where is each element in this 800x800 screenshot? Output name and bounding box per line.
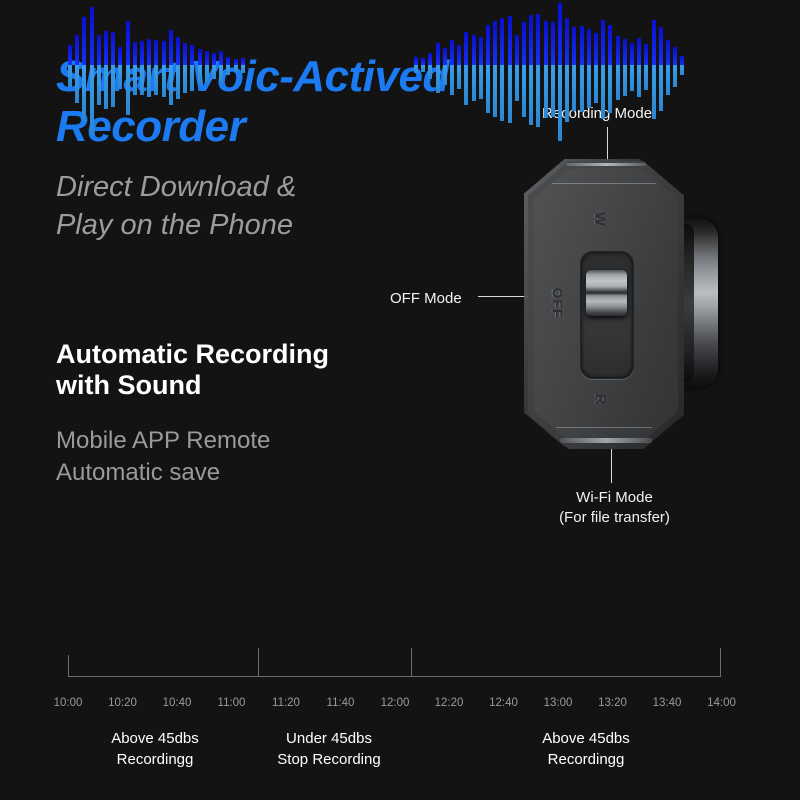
chart-tick-label: 12:20 <box>429 697 469 709</box>
chart-divider-stop-end <box>411 648 412 677</box>
waveform-bar-lower <box>154 65 158 95</box>
mode-slider-knob[interactable] <box>586 270 627 316</box>
waveform-bar-lower <box>479 65 483 99</box>
waveform-bar <box>623 39 627 96</box>
waveform-bar <box>90 7 94 135</box>
waveform-bar <box>133 42 137 95</box>
chart-tick-label: 10:00 <box>48 697 88 709</box>
waveform-bar-upper <box>198 49 202 65</box>
waveform-bar-upper <box>219 51 223 65</box>
waveform-bar-lower <box>443 65 447 85</box>
waveform-bar-lower <box>608 65 612 113</box>
waveform-bar <box>428 53 432 79</box>
waveform-bar-lower <box>565 65 569 122</box>
waveform-bar-lower <box>234 65 238 72</box>
caption-segment-2-line-2: Stop Recording <box>229 749 429 770</box>
chart-tick-label: 12:40 <box>484 697 524 709</box>
waveform-bar-lower <box>428 65 432 79</box>
waveform-bar-upper <box>479 37 483 65</box>
feature-title-line-2: with Sound <box>56 370 456 401</box>
callout-off-mode: OFF Mode <box>390 289 462 309</box>
waveform-bar <box>169 30 173 105</box>
callout-wifi-mode: Wi-Fi Mode (For file transfer) <box>512 488 717 528</box>
waveform-bar-upper <box>226 57 230 65</box>
waveform-bar-lower <box>623 65 627 96</box>
device-label-off: OFF <box>550 288 566 319</box>
waveform-bar-upper <box>659 27 663 65</box>
caption-segment-3-line-2: Recordingg <box>486 749 686 770</box>
chart-tick-label: 11:20 <box>266 697 306 709</box>
waveform-bar <box>126 21 130 115</box>
waveform-bar-upper <box>154 40 158 65</box>
waveform-bar-upper <box>616 36 620 65</box>
waveform-bar-lower <box>183 65 187 93</box>
waveform-bar-upper <box>75 35 79 65</box>
waveform-bar-upper <box>536 14 540 65</box>
chart-divider-recording-end <box>258 648 259 677</box>
waveform-bar <box>140 41 144 95</box>
waveform-bar-lower <box>241 65 245 73</box>
waveform-bar <box>673 47 677 87</box>
waveform-bar-upper <box>601 20 605 65</box>
waveform-bar <box>529 15 533 125</box>
waveform-bar-upper <box>580 26 584 65</box>
waveform-bar-upper <box>176 37 180 65</box>
waveform-bar <box>594 33 598 103</box>
waveform-bar-lower <box>500 65 504 121</box>
waveform-bar <box>154 40 158 95</box>
device-bottom-accent-strip <box>560 438 652 443</box>
waveform-bar <box>565 18 569 122</box>
waveform-bar-upper <box>551 22 555 65</box>
waveform-bar-lower <box>558 65 562 141</box>
caption-segment-1-line-2: Recordingg <box>55 749 255 770</box>
waveform-bar-upper <box>594 33 598 65</box>
waveform-bar-lower <box>97 65 101 105</box>
waveform-bar-lower <box>472 65 476 101</box>
waveform-bar <box>176 37 180 99</box>
waveform-bar <box>190 45 194 91</box>
waveform-bar <box>666 40 670 95</box>
waveform-bar-upper <box>82 17 86 65</box>
waveform-bar <box>551 22 555 117</box>
waveform-bar-lower <box>637 65 641 97</box>
chart-divider-end <box>720 648 721 677</box>
waveform-bar-upper <box>472 35 476 65</box>
waveform-bar <box>486 25 490 113</box>
waveform-bar <box>450 40 454 95</box>
waveform-bar <box>680 56 684 75</box>
waveform-bar <box>464 32 468 105</box>
waveform-bar-upper <box>680 56 684 65</box>
waveform-bar-lower <box>414 65 418 73</box>
waveform-bar-lower <box>680 65 684 75</box>
waveform-bar <box>436 43 440 93</box>
waveform-bar <box>82 17 86 121</box>
waveform-bar <box>536 14 540 127</box>
waveform-bar-lower <box>572 65 576 111</box>
waveform-bar-lower <box>205 65 209 83</box>
chart-tick-label: 14:00 <box>702 697 742 709</box>
waveform-bar-upper <box>118 47 122 65</box>
waveform-bar <box>630 43 634 91</box>
waveform-bar <box>572 27 576 111</box>
waveform-bar-upper <box>90 7 94 65</box>
device-top-hairline <box>552 183 656 184</box>
marketing-page: Smart Voic-Actived Recorder Direct Downl… <box>0 0 800 800</box>
device-label-w: W <box>591 212 608 227</box>
waveform-bar-upper <box>169 30 173 65</box>
caption-segment-1-line-1: Above 45dbs <box>55 728 255 749</box>
waveform-bar <box>500 18 504 121</box>
waveform-bar-upper <box>493 21 497 65</box>
chart-tick-label: 13:20 <box>593 697 633 709</box>
waveform-bar-lower <box>90 65 94 135</box>
waveform-bar-lower <box>464 65 468 105</box>
waveform-bar-upper <box>450 40 454 65</box>
waveform-bar <box>118 47 122 89</box>
waveform-bar-lower <box>118 65 122 89</box>
waveform-bar <box>659 27 663 111</box>
chart-divider-start <box>68 655 69 677</box>
waveform-bar-lower <box>544 65 548 118</box>
waveform-bar <box>608 25 612 113</box>
waveform-bar-lower <box>212 65 216 79</box>
waveform-bar <box>104 31 108 109</box>
waveform-bar-lower <box>580 65 584 112</box>
waveform-bar <box>587 29 591 108</box>
waveform-bar-upper <box>572 27 576 65</box>
caption-segment-3: Above 45dbs Recordingg <box>486 728 686 770</box>
waveform-bar-upper <box>190 45 194 65</box>
waveform-bar <box>183 43 187 93</box>
subheadline-line-1: Direct Download & <box>56 168 476 206</box>
feature-sub-line-1: Mobile APP Remote <box>56 425 456 457</box>
waveform-bar-upper <box>508 16 512 65</box>
waveform-bar-lower <box>140 65 144 95</box>
waveform-bar-upper <box>212 53 216 65</box>
feature-description: Mobile APP Remote Automatic save <box>56 425 456 489</box>
callout-wifi-mode-note: (For file transfer) <box>512 508 717 528</box>
waveform-chart <box>0 0 800 140</box>
waveform-bar-lower <box>82 65 86 121</box>
waveform-bar-lower <box>659 65 663 111</box>
subheadline-line-2: Play on the Phone <box>56 206 476 244</box>
waveform-bar-lower <box>616 65 620 100</box>
chart-axis-line <box>68 676 721 677</box>
waveform-bar-upper <box>183 43 187 65</box>
waveform-bar <box>147 39 151 97</box>
waveform-bar-upper <box>464 32 468 65</box>
waveform-bar-upper <box>587 29 591 65</box>
waveform-bar-lower <box>162 65 166 97</box>
waveform-bar-lower <box>522 65 526 117</box>
waveform-bar-upper <box>652 20 656 65</box>
feature-heading: Automatic Recording with Sound <box>56 339 456 401</box>
waveform-bar-upper <box>140 41 144 65</box>
waveform-bar-lower <box>551 65 555 117</box>
waveform-bar <box>421 58 425 72</box>
waveform-bar-upper <box>637 38 641 65</box>
feature-sub-line-2: Automatic save <box>56 457 456 489</box>
waveform-bar-lower <box>176 65 180 99</box>
waveform-bar-upper <box>104 31 108 65</box>
waveform-bar <box>644 44 648 90</box>
waveform-bar-upper <box>457 45 461 65</box>
waveform-bar-upper <box>608 25 612 65</box>
waveform-bar-lower <box>75 65 79 103</box>
chart-tick-label: 10:20 <box>103 697 143 709</box>
waveform-bar-lower <box>630 65 634 91</box>
waveform-bar-lower <box>493 65 497 117</box>
waveform-bar-lower <box>594 65 598 103</box>
waveform-bar-lower <box>536 65 540 127</box>
waveform-bar-lower <box>111 65 115 107</box>
device-top-accent-strip <box>566 163 646 166</box>
waveform-bar <box>443 48 447 85</box>
waveform-bar-upper <box>515 35 519 65</box>
chart-tick-label: 10:40 <box>157 697 197 709</box>
waveform-bar <box>508 16 512 123</box>
device-side-ring <box>680 218 718 388</box>
waveform-bar-upper <box>544 21 548 65</box>
caption-segment-3-line-1: Above 45dbs <box>486 728 686 749</box>
waveform-bar-lower <box>219 65 223 83</box>
waveform-bar <box>75 35 79 103</box>
waveform-bar-upper <box>133 42 137 65</box>
caption-segment-2-line-1: Under 45dbs <box>229 728 429 749</box>
caption-segment-1: Above 45dbs Recordingg <box>55 728 255 770</box>
chart-tick-label: 13:00 <box>538 697 578 709</box>
waveform-bar <box>515 35 519 101</box>
waveform-bar-upper <box>666 40 670 65</box>
caption-segment-2: Under 45dbs Stop Recording <box>229 728 429 770</box>
chart-tick-label: 12:00 <box>375 697 415 709</box>
waveform-bar <box>558 3 562 141</box>
device-label-r: R <box>591 394 608 406</box>
waveform-bar <box>652 20 656 119</box>
waveform-bar-lower <box>666 65 670 95</box>
waveform-bar <box>580 26 584 112</box>
chart-tick-label: 11:40 <box>321 697 361 709</box>
waveform-bar-upper <box>97 35 101 65</box>
waveform-bar-lower <box>486 65 490 113</box>
waveform-bar-lower <box>508 65 512 123</box>
waveform-bar-upper <box>428 53 432 65</box>
callout-wifi-mode-label: Wi-Fi Mode <box>512 488 717 508</box>
waveform-bar-upper <box>529 15 533 65</box>
waveform-bar-lower <box>673 65 677 87</box>
waveform-bar-upper <box>126 21 130 65</box>
voice-recorder-device: W OFF R <box>520 155 720 455</box>
waveform-bar-lower <box>587 65 591 108</box>
waveform-bar <box>472 35 476 101</box>
waveform-bar-upper <box>68 45 72 65</box>
chart-tick-label: 11:00 <box>212 697 252 709</box>
waveform-bar-lower <box>436 65 440 93</box>
waveform-bar-lower <box>450 65 454 95</box>
waveform-bar <box>205 51 209 83</box>
waveform-bar <box>219 51 223 83</box>
waveform-bar-lower <box>515 65 519 101</box>
waveform-bar <box>522 22 526 117</box>
device-bottom-hairline <box>556 427 652 428</box>
waveform-bar <box>601 20 605 119</box>
waveform-bar-lower <box>226 65 230 75</box>
waveform-bar-lower <box>133 65 137 95</box>
waveform-bar-upper <box>522 22 526 65</box>
waveform-bar-upper <box>147 39 151 65</box>
waveform-bar-upper <box>241 58 245 65</box>
waveform-bar-lower <box>198 65 202 85</box>
waveform-bar-lower <box>126 65 130 115</box>
waveform-bar <box>162 41 166 97</box>
feature-title-line-1: Automatic Recording <box>56 339 456 370</box>
waveform-bar-upper <box>111 32 115 65</box>
waveform-bar-upper <box>436 43 440 65</box>
waveform-bar-lower <box>104 65 108 109</box>
waveform-bar-lower <box>421 65 425 72</box>
waveform-bar-lower <box>601 65 605 119</box>
waveform-bar-upper <box>644 44 648 65</box>
waveform-bar-upper <box>630 43 634 65</box>
chart-tick-label: 13:40 <box>647 697 687 709</box>
waveform-bar <box>212 53 216 79</box>
waveform-bar-lower <box>529 65 533 125</box>
waveform-bar <box>226 57 230 75</box>
waveform-bar <box>637 38 641 97</box>
waveform-bar-lower <box>457 65 461 89</box>
waveform-bar <box>97 35 101 105</box>
waveform-bar-upper <box>414 57 418 65</box>
waveform-bar <box>616 36 620 100</box>
waveform-bar-lower <box>68 65 72 87</box>
waveform-bar <box>544 21 548 118</box>
waveform-bar <box>479 37 483 99</box>
waveform-bar <box>241 58 245 73</box>
waveform-bar <box>493 21 497 117</box>
waveform-bar-lower <box>147 65 151 97</box>
waveform-bar-upper <box>443 48 447 65</box>
waveform-bar <box>198 49 202 85</box>
waveform-bar-upper <box>673 47 677 65</box>
waveform-bar <box>68 45 72 87</box>
waveform-bar-lower <box>190 65 194 91</box>
waveform-bar-lower <box>169 65 173 105</box>
waveform-bar-upper <box>486 25 490 65</box>
waveform-bar-upper <box>565 18 569 65</box>
waveform-bar-lower <box>652 65 656 119</box>
waveform-bar <box>234 59 238 72</box>
waveform-bar-upper <box>623 39 627 65</box>
page-subtitle: Direct Download & Play on the Phone <box>56 168 476 244</box>
waveform-bar-upper <box>558 3 562 65</box>
waveform-bar-lower <box>644 65 648 90</box>
waveform-bar <box>111 32 115 107</box>
waveform-bar <box>414 57 418 73</box>
waveform-bar-upper <box>162 41 166 65</box>
waveform-bar-upper <box>205 51 209 65</box>
waveform-bar-upper <box>500 18 504 65</box>
waveform-bar <box>457 45 461 89</box>
waveform-bar-upper <box>421 58 425 65</box>
